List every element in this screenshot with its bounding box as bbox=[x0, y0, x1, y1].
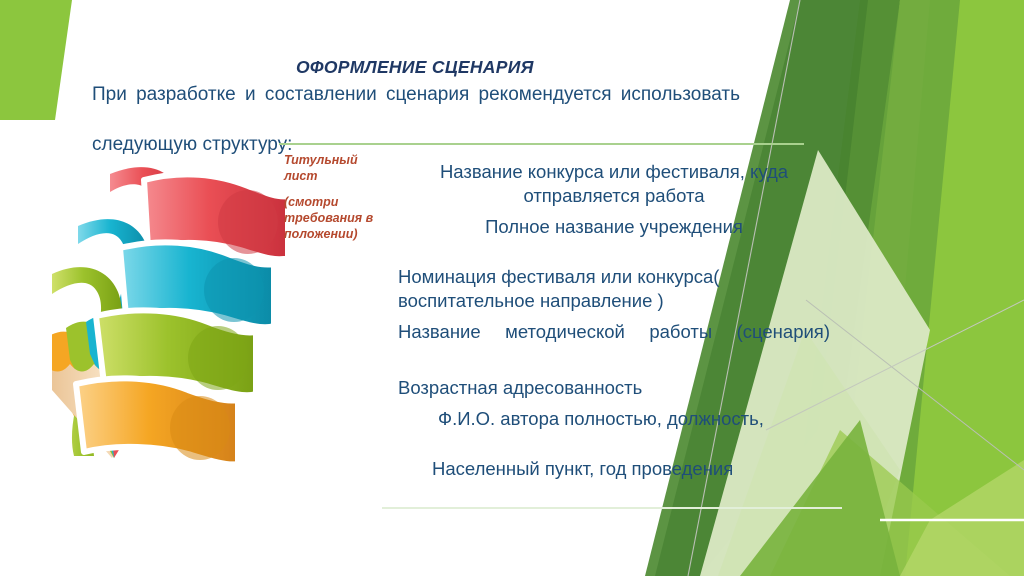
body-line-5: Возрастная адресованность bbox=[398, 376, 830, 400]
green-shape-bright bbox=[880, 0, 1024, 576]
banner-red-dot bbox=[218, 190, 278, 254]
banner-group bbox=[76, 174, 288, 464]
body-line-1: Название конкурса или фестиваля, куда от… bbox=[398, 160, 830, 207]
spacer-5 bbox=[398, 399, 830, 407]
spacer-6 bbox=[398, 431, 830, 457]
presentation-slide: ОФОРМЛЕНИЕ СЦЕНАРИЯ При разработке и сос… bbox=[0, 0, 1024, 576]
body-line-2: Полное название учреждения bbox=[398, 215, 830, 239]
colored-pencil-illustration bbox=[52, 152, 292, 464]
label-subtitle: (смотри требования в положении) bbox=[284, 194, 380, 243]
intro-paragraph: При разработке и составлении сценария ре… bbox=[92, 82, 740, 157]
body-line-6: Ф.И.О. автора полностью, должность, bbox=[398, 407, 830, 431]
banner-green-dot bbox=[188, 326, 248, 390]
green-shape-mid bbox=[820, 0, 960, 576]
body-line-4: Название методической работы (сценария) bbox=[398, 320, 830, 367]
body-line-7: Населенный пункт, год проведения bbox=[398, 457, 830, 481]
green-shape-pale-d bbox=[900, 460, 1024, 576]
body-content: Название конкурса или фестиваля, куда от… bbox=[398, 160, 830, 481]
spacer-4 bbox=[398, 368, 830, 376]
label-title: Титульный лист bbox=[284, 152, 380, 185]
spacer-1 bbox=[398, 207, 830, 215]
divider-top bbox=[279, 143, 804, 145]
hairline-b bbox=[806, 300, 1024, 470]
slide-title: ОФОРМЛЕНИЕ СЦЕНАРИЯ bbox=[296, 57, 534, 78]
label-column: Титульный лист (смотри требования в поло… bbox=[284, 152, 380, 242]
intro-line-1: При разработке и составлении сценария ре… bbox=[92, 82, 740, 132]
spacer-2 bbox=[398, 239, 830, 265]
body-line-3: Номинация фестиваля или конкурса( воспит… bbox=[398, 265, 830, 312]
corner-wedge-top-left bbox=[0, 0, 72, 120]
spacer-3 bbox=[398, 312, 830, 320]
banner-cyan-dot bbox=[204, 258, 264, 322]
divider-bottom bbox=[382, 507, 842, 509]
banner-orange-dot bbox=[170, 396, 230, 460]
